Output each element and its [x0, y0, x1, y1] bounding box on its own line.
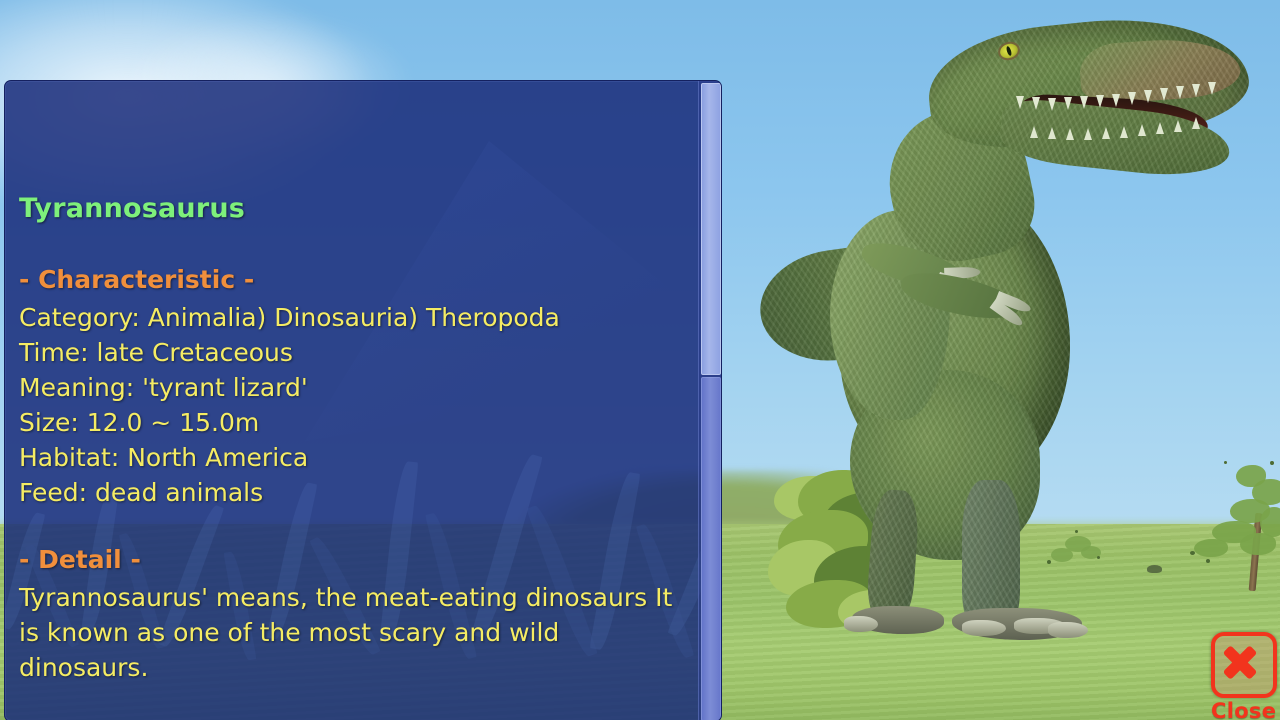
characteristic-row-habitat: Habitat: North America [19, 440, 560, 475]
page-title: Tyrannosaurus [19, 193, 245, 224]
characteristic-row-meaning: Meaning: 'tyrant lizard' [19, 370, 560, 405]
dino-foot-right [952, 608, 1082, 640]
dino-teeth-upper [1016, 96, 1226, 116]
game-screen: Tyrannosaurus - Characteristic - Categor… [0, 0, 1280, 720]
close-button[interactable]: Close [1211, 632, 1273, 716]
section-heading-characteristic: - Characteristic - [19, 265, 254, 294]
close-icon [1215, 636, 1265, 686]
section-heading-detail: - Detail - [19, 545, 141, 574]
scrollbar-track-lower[interactable] [701, 377, 721, 720]
panel-scrollbar[interactable] [698, 81, 721, 720]
dinosaur-info-panel: Tyrannosaurus - Characteristic - Categor… [4, 80, 722, 720]
dino-foot-left [852, 606, 944, 634]
dino-teeth-lower [1030, 122, 1230, 142]
characteristic-row-feed: Feed: dead animals [19, 475, 560, 510]
detail-paragraph-1: Tyrannosaurus' means, the meat-eating di… [19, 580, 695, 685]
close-button-label: Close [1211, 699, 1273, 720]
section-heading-label: - Detail - [19, 545, 141, 574]
scrollbar-thumb[interactable] [701, 83, 721, 375]
characteristic-row-size: Size: 12.0 ~ 15.0m [19, 405, 560, 440]
section-heading-label: - Characteristic - [19, 265, 254, 294]
characteristic-row-category: Category: Animalia) Dinosauria) Theropod… [19, 300, 560, 335]
characteristic-row-time: Time: late Cretaceous [19, 335, 560, 370]
characteristic-list: Category: Animalia) Dinosauria) Theropod… [19, 300, 560, 510]
dinosaur-model [700, 0, 1280, 680]
close-icon-box[interactable] [1211, 632, 1277, 698]
panel-content: Tyrannosaurus - Characteristic - Categor… [5, 81, 699, 720]
